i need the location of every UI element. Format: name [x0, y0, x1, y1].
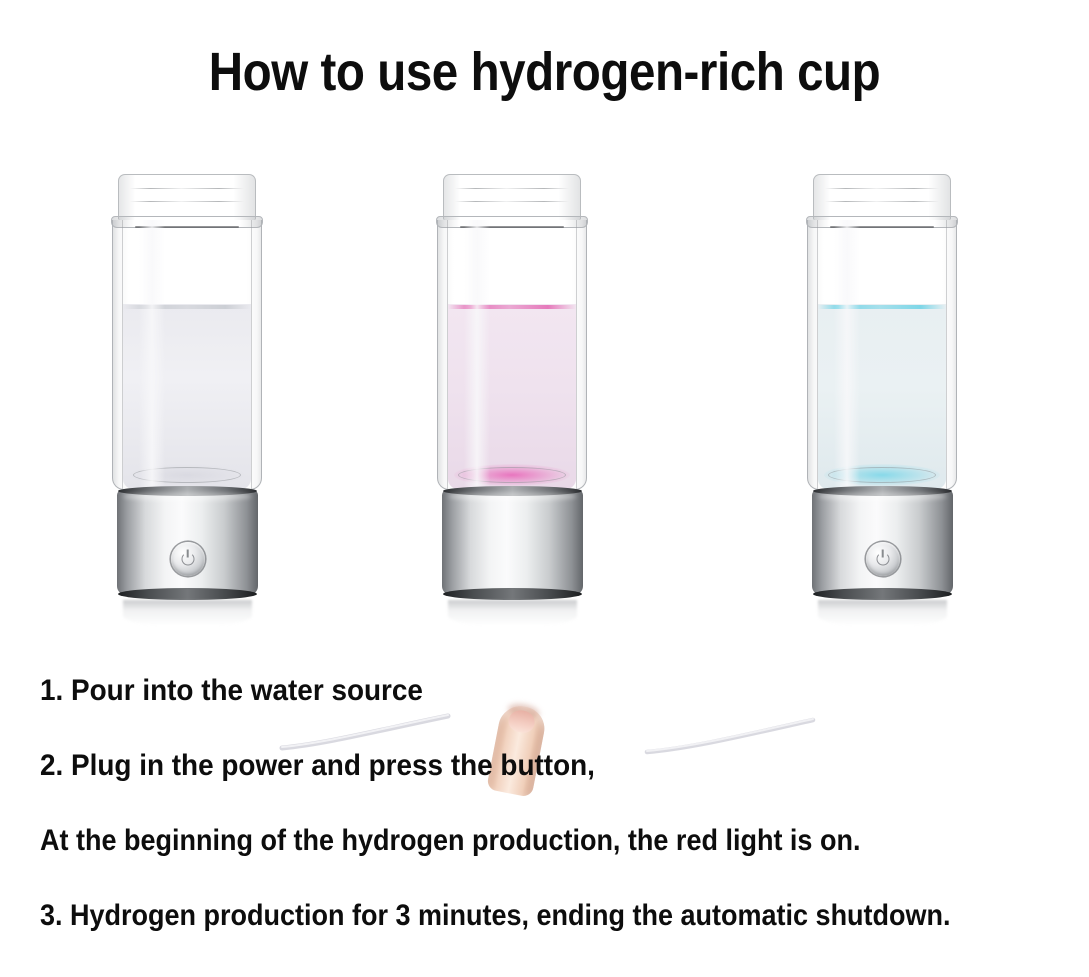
base-bottom-rim — [443, 588, 582, 600]
bottle-step-3 — [792, 160, 972, 640]
base-top-shade — [123, 492, 252, 501]
product-illustration-row — [0, 160, 1089, 660]
instruction-step-2: 2. Plug in the power and press the butto… — [40, 751, 998, 781]
power-icon — [181, 553, 194, 566]
base-top-shade — [818, 492, 947, 501]
bottle-glass-body — [807, 220, 957, 490]
glass-highlight — [834, 220, 860, 489]
bottle-metal-base — [442, 490, 583, 595]
base-bottom-rim — [118, 588, 257, 600]
glass-inner-wall-right — [576, 220, 577, 489]
glass-inner-wall-right — [251, 220, 252, 489]
base-bottom-rim — [813, 588, 952, 600]
bottle-reflection — [818, 600, 947, 626]
bottle-lid-icon — [443, 174, 581, 220]
bottle-reflection — [448, 600, 577, 626]
bottle-metal-base — [812, 490, 953, 595]
bottle-reflection — [123, 600, 252, 626]
bottle-metal-base — [117, 490, 258, 595]
power-button[interactable] — [866, 542, 900, 576]
power-button[interactable] — [171, 542, 205, 576]
instruction-list: 1. Pour into the water source 2. Plug in… — [40, 676, 1070, 931]
bottle-step-2 — [422, 160, 602, 640]
bottle-glass-body — [437, 220, 587, 490]
glass-highlight — [139, 220, 165, 489]
instruction-note-red-light: At the beginning of the hydrogen product… — [40, 826, 967, 856]
bottle-glass-body — [112, 220, 262, 490]
bottle-lid-icon — [813, 174, 951, 220]
instruction-step-3: 3. Hydrogen production for 3 minutes, en… — [40, 901, 967, 931]
instruction-step-1: 1. Pour into the water source — [40, 676, 998, 706]
glass-inner-wall-right — [946, 220, 947, 489]
glass-highlight — [464, 220, 490, 489]
base-top-shade — [448, 492, 577, 501]
power-icon — [876, 553, 889, 566]
page-title: How to use hydrogen-rich cup — [65, 44, 1023, 101]
bottle-step-1 — [97, 160, 277, 640]
bottle-lid-icon — [118, 174, 256, 220]
